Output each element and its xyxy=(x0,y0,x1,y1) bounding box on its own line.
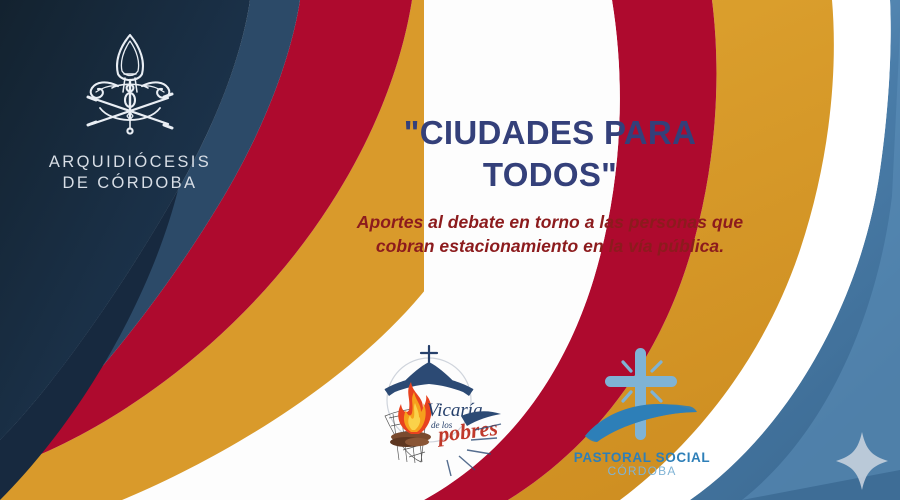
page-subtitle: Aportes al debate en torno a las persona… xyxy=(330,210,770,258)
slide-content: "CIUDADES PARA TODOS" Aportes al debate … xyxy=(330,112,770,258)
pastoral-social-logo-icon: PASTORAL SOCIAL CÓRDOBA xyxy=(567,338,717,478)
pastoral-label-line-2: CÓRDOBA xyxy=(607,463,676,478)
cross-icon xyxy=(421,346,437,364)
vicaria-de-los-pobres-logo-icon: Vicaría de los pobres xyxy=(355,338,525,478)
title-line-2: TODOS" xyxy=(483,156,617,193)
pastoral-label-line-1: PASTORAL SOCIAL xyxy=(574,450,711,465)
logs-icon xyxy=(390,432,431,448)
page-title: "CIUDADES PARA TODOS" xyxy=(330,112,770,196)
partner-logos: Vicaría de los pobres xyxy=(336,338,736,486)
title-line-1: "CIUDADES PARA xyxy=(404,114,696,151)
presentation-slide: ARQUIDIÓCESIS DE CÓRDOBA "CIUDADES PARA … xyxy=(0,0,900,500)
